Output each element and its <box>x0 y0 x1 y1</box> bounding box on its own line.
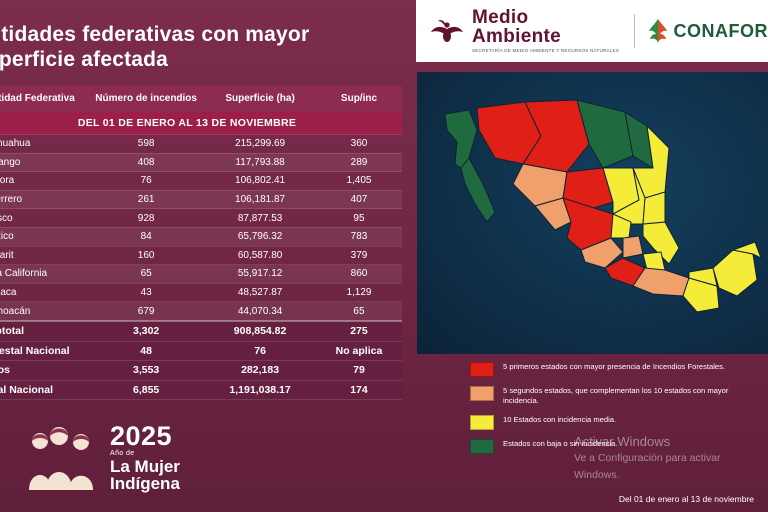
cell-incendios: 679 <box>88 302 204 321</box>
cell-incendios: 928 <box>88 209 204 228</box>
cell-supinc: 65 <box>316 302 402 321</box>
cell-incendios: 598 <box>88 135 204 154</box>
cell-incendios: 160 <box>88 246 204 265</box>
cell-superficie: 87,877.53 <box>204 209 316 228</box>
cell-supinc: 360 <box>316 135 402 154</box>
table-row: Chihuahua 598 215,299.69 360 <box>0 135 402 154</box>
col-entidad: Entidad Federativa <box>0 86 88 112</box>
cell-supinc: 95 <box>316 209 402 228</box>
cell-entidad: Durango <box>0 153 88 172</box>
cell-entidad: Forestal Nacional <box>0 341 88 361</box>
table-row: Durango 408 117,793.88 289 <box>0 153 402 172</box>
cell-incendios: 408 <box>88 153 204 172</box>
table-row: México 84 65,796.32 783 <box>0 227 402 246</box>
table-row: Guerrero 261 106,181.87 407 <box>0 190 402 209</box>
cell-entidad: Otros <box>0 361 88 381</box>
watermark-line2: Ve a Configuración para activar Windows. <box>574 450 768 484</box>
cell-supinc: 174 <box>316 380 402 400</box>
table-date-band: DEL 01 DE ENERO AL 13 DE NOVIEMBRE <box>0 112 402 135</box>
badge-line3: Indígena <box>110 475 180 492</box>
indigenous-women-icon <box>26 424 102 490</box>
cell-entidad: Baja California <box>0 265 88 284</box>
cell-supinc: 1,405 <box>316 172 402 191</box>
cell-incendios: 6,855 <box>88 380 204 400</box>
cell-superficie: 282,183 <box>204 361 316 381</box>
table-row: Oaxaca 43 48,527.87 1,129 <box>0 283 402 302</box>
cell-entidad: Sonora <box>0 172 88 191</box>
cell-supinc: 79 <box>316 361 402 381</box>
col-supinc: Sup/inc <box>316 86 402 112</box>
cell-supinc: 275 <box>316 321 402 341</box>
col-superficie: Superficie (ha) <box>204 86 316 112</box>
cell-supinc: 407 <box>316 190 402 209</box>
table-header-row: Entidad Federativa Número de incendios S… <box>0 86 402 112</box>
table-row: Jalisco 928 87,877.53 95 <box>0 209 402 228</box>
cell-entidad: México <box>0 227 88 246</box>
legend-swatch <box>470 362 494 377</box>
legend-item: 5 primeros estados con mayor presencia d… <box>470 362 760 377</box>
table-total-row: Otros 3,553 282,183 79 <box>0 361 402 381</box>
cell-supinc: No aplica <box>316 341 402 361</box>
page-title: Entidades federativas con mayor superfic… <box>0 22 404 72</box>
cell-entidad: Oaxaca <box>0 283 88 302</box>
cell-incendios: 3,553 <box>88 361 204 381</box>
cell-supinc: 289 <box>316 153 402 172</box>
badge-year: 2025 <box>110 423 180 449</box>
windows-activation-watermark: Activar Windows Ve a Configuración para … <box>574 433 768 484</box>
cell-superficie: 48,527.87 <box>204 283 316 302</box>
conafor-logo: CONAFOR <box>647 18 768 44</box>
cell-supinc: 783 <box>316 227 402 246</box>
cell-superficie: 55,917.12 <box>204 265 316 284</box>
badge-line2: La Mujer <box>110 458 180 475</box>
cell-superficie: 60,587.80 <box>204 246 316 265</box>
cell-entidad: Jalisco <box>0 209 88 228</box>
tree-icon <box>647 18 669 44</box>
table-row: Sonora 76 106,802.41 1,405 <box>0 172 402 191</box>
cell-supinc: 1,129 <box>316 283 402 302</box>
cell-superficie: 117,793.88 <box>204 153 316 172</box>
cell-superficie: 44,070.34 <box>204 302 316 321</box>
table-row: Nayarit 160 60,587.80 379 <box>0 246 402 265</box>
cell-entidad: Total Nacional <box>0 380 88 400</box>
badge-line1: Año de <box>110 450 180 457</box>
footer-date: Del 01 de enero al 13 de noviembre <box>619 494 754 504</box>
eagle-icon <box>430 17 464 45</box>
logo-band: Medio Ambiente SECRETARÍA DE MEDIO AMBIE… <box>416 0 768 62</box>
cell-incendios: 261 <box>88 190 204 209</box>
legend-item: 5 segundos estados, que complementan los… <box>470 386 760 406</box>
legend-label: 5 primeros estados con mayor presencia d… <box>503 362 725 372</box>
cell-superficie: 106,181.87 <box>204 190 316 209</box>
cell-entidad: Subtotal <box>0 321 88 341</box>
cell-incendios: 84 <box>88 227 204 246</box>
legend-item: 10 Estados con incidencia media. <box>470 415 760 430</box>
logo-divider <box>634 14 635 48</box>
cell-supinc: 379 <box>316 246 402 265</box>
legend-label: 5 segundos estados, que complementan los… <box>503 386 760 406</box>
table-body: Chihuahua 598 215,299.69 360 Durango 408… <box>0 135 402 400</box>
conafor-label: CONAFOR <box>674 21 768 42</box>
watermark-line1: Activar Windows <box>574 433 768 450</box>
logo-title: Medio Ambiente <box>472 8 622 46</box>
legend-label: 10 Estados con incidencia media. <box>503 415 616 425</box>
cell-entidad: Michoacán <box>0 302 88 321</box>
cell-incendios: 3,302 <box>88 321 204 341</box>
date-band-label: DEL 01 DE ENERO AL 13 DE NOVIEMBRE <box>0 112 402 135</box>
legend-swatch <box>470 386 494 401</box>
cell-superficie: 215,299.69 <box>204 135 316 154</box>
cell-superficie: 1,191,038.17 <box>204 380 316 400</box>
cell-superficie: 908,854.82 <box>204 321 316 341</box>
cell-entidad: Chihuahua <box>0 135 88 154</box>
map-states <box>417 72 768 354</box>
fires-table: DEL 01 DE ENERO AL 13 DE NOVIEMBRE Entid… <box>0 86 402 400</box>
cell-incendios: 48 <box>88 341 204 361</box>
cell-incendios: 65 <box>88 265 204 284</box>
table-total-row: Subtotal 3,302 908,854.82 275 <box>0 321 402 341</box>
cell-entidad: Nayarit <box>0 246 88 265</box>
cell-supinc: 860 <box>316 265 402 284</box>
mexico-map <box>417 72 768 354</box>
table-row: Michoacán 679 44,070.34 65 <box>0 302 402 321</box>
table-total-row: Total Nacional 6,855 1,191,038.17 174 <box>0 380 402 400</box>
cell-superficie: 106,802.41 <box>204 172 316 191</box>
cell-incendios: 76 <box>88 172 204 191</box>
table-total-row: Forestal Nacional 48 76 No aplica <box>0 341 402 361</box>
cell-entidad: Guerrero <box>0 190 88 209</box>
badge-text: 2025 Año de La Mujer Indígena <box>110 423 180 492</box>
legend-swatch <box>470 415 494 430</box>
logo-text: Medio Ambiente SECRETARÍA DE MEDIO AMBIE… <box>472 8 622 54</box>
col-incendios: Número de incendios <box>88 86 204 112</box>
cell-superficie: 65,796.32 <box>204 227 316 246</box>
cell-superficie: 76 <box>204 341 316 361</box>
slide: Entidades federativas con mayor superfic… <box>0 0 768 512</box>
year-badge: 2025 Año de La Mujer Indígena <box>26 420 256 494</box>
table-row: Baja California 65 55,917.12 860 <box>0 265 402 284</box>
logo-subtitle: SECRETARÍA DE MEDIO AMBIENTE Y RECURSOS … <box>472 49 622 54</box>
legend-swatch <box>470 439 494 454</box>
cell-incendios: 43 <box>88 283 204 302</box>
